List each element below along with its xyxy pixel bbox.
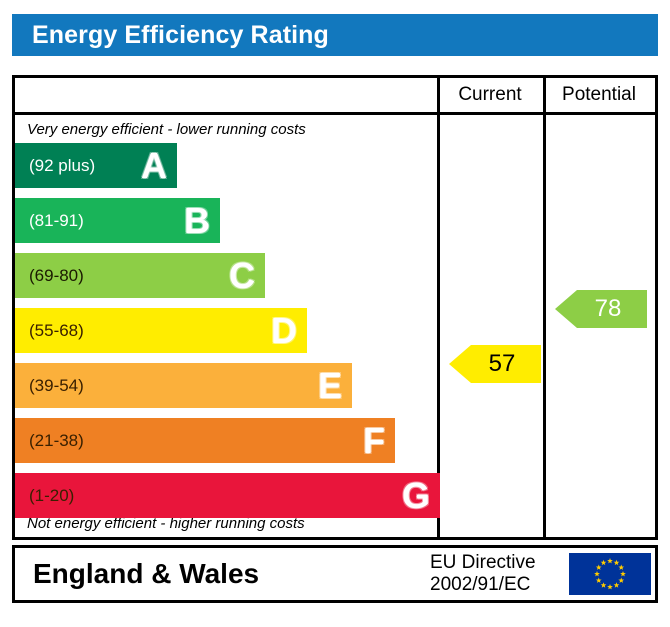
band-letter-label: B (184, 203, 210, 239)
footer-region-label: England & Wales (33, 558, 259, 590)
page-title: Energy Efficiency Rating (12, 21, 329, 50)
band-range-label: (81-91) (15, 211, 84, 231)
eu-flag-star (618, 578, 624, 583)
band-row-d: (55-68)D (15, 308, 307, 353)
rating-marker-current: 57 (449, 345, 541, 383)
caption-very-efficient: Very energy efficient - lower running co… (27, 117, 306, 141)
eu-flag-star (614, 582, 620, 587)
chart-title-bar: Energy Efficiency Rating (12, 14, 658, 56)
eu-flag-star (607, 558, 613, 563)
band-range-label: (1-20) (15, 486, 74, 506)
band-scale: Very energy efficient - lower running co… (15, 115, 437, 537)
eu-flag-star (620, 571, 626, 576)
directive-line-2: 2002/91/EC (430, 574, 536, 596)
rating-marker-potential: 78 (555, 290, 647, 328)
band-letter-label: C (229, 258, 255, 294)
band-range-label: (69-80) (15, 266, 84, 286)
band-letter-label: A (141, 148, 167, 184)
band-row-g: (1-20)G (15, 473, 440, 518)
eu-flag-icon (568, 552, 652, 596)
band-row-b: (81-91)B (15, 198, 220, 243)
eu-flag-star (601, 560, 607, 565)
column-header-current: Current (437, 78, 543, 112)
eu-flag-star (618, 565, 624, 570)
band-row-f: (21-38)F (15, 418, 395, 463)
rating-value-current: 57 (475, 350, 516, 378)
column-divider-current (437, 78, 440, 537)
band-range-label: (39-54) (15, 376, 84, 396)
band-letter-label: G (402, 478, 430, 514)
footer-directive-label: EU Directive 2002/91/EC (430, 552, 536, 596)
eu-flag-star (596, 578, 602, 583)
eu-flag-star (596, 565, 602, 570)
certificate-footer: England & Wales EU Directive 2002/91/EC (12, 545, 658, 603)
eu-flag-star (594, 571, 600, 576)
band-letter-label: E (318, 368, 342, 404)
band-row-e: (39-54)E (15, 363, 352, 408)
energy-efficiency-certificate: Energy Efficiency Rating Current Potenti… (0, 0, 670, 627)
eu-flag-star (601, 582, 607, 587)
rating-value-potential: 78 (581, 295, 622, 323)
table-header-row: Current Potential (15, 78, 655, 115)
band-letter-label: D (271, 313, 297, 349)
column-divider-potential (543, 78, 546, 537)
rating-table: Current Potential Very energy efficient … (12, 75, 658, 540)
eu-flag-star (607, 584, 613, 589)
band-range-label: (92 plus) (15, 156, 95, 176)
band-letter-label: F (363, 423, 385, 459)
band-row-a: (92 plus)A (15, 143, 177, 188)
band-range-label: (55-68) (15, 321, 84, 341)
directive-line-1: EU Directive (430, 552, 536, 574)
band-row-c: (69-80)C (15, 253, 265, 298)
band-range-label: (21-38) (15, 431, 84, 451)
column-header-potential: Potential (543, 78, 655, 112)
eu-flag-star (614, 560, 620, 565)
